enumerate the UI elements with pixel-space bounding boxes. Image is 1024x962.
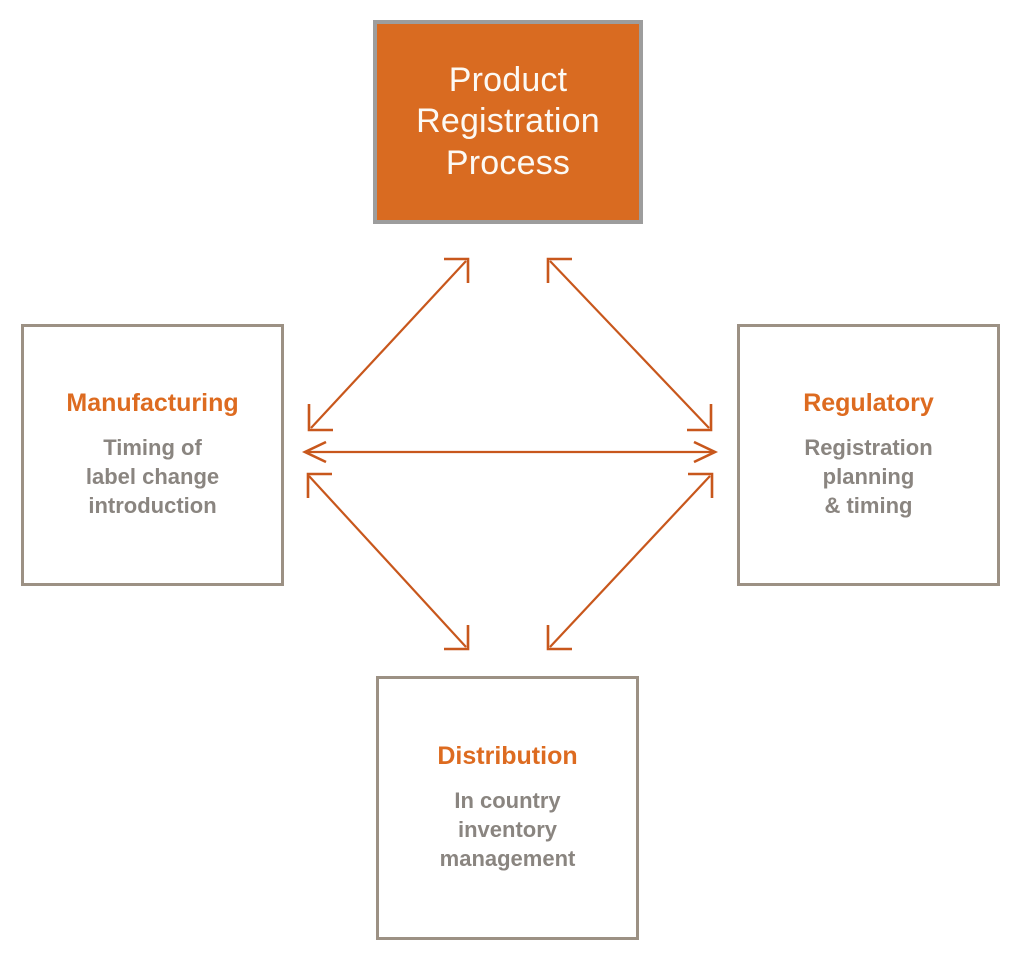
- node-manufacturing-description: Timing of label change introduction: [86, 433, 219, 521]
- node-regulatory[interactable]: Regulatory Registration planning & timin…: [737, 324, 1000, 586]
- node-distribution[interactable]: Distribution In country inventory manage…: [376, 676, 639, 940]
- node-product-registration-process[interactable]: ProductRegistrationProcess: [373, 20, 643, 224]
- node-hub-title: ProductRegistrationProcess: [416, 60, 600, 184]
- arrow-manufacturing-hub: [309, 259, 468, 430]
- arrow-manufacturing-distribution: [308, 474, 468, 649]
- arrow-distribution-regulatory: [548, 474, 712, 649]
- arrow-manufacturing-regulatory: [305, 442, 715, 462]
- node-manufacturing[interactable]: Manufacturing Timing of label change int…: [21, 324, 284, 586]
- node-regulatory-title: Regulatory: [803, 389, 934, 419]
- node-manufacturing-title: Manufacturing: [66, 389, 238, 419]
- node-distribution-description: In country inventory management: [440, 786, 576, 874]
- node-regulatory-description: Registration planning & timing: [804, 433, 932, 521]
- node-distribution-title: Distribution: [437, 742, 577, 772]
- diagram-canvas: ProductRegistrationProcess Manufacturing…: [0, 0, 1024, 962]
- arrow-hub-regulatory: [548, 259, 711, 430]
